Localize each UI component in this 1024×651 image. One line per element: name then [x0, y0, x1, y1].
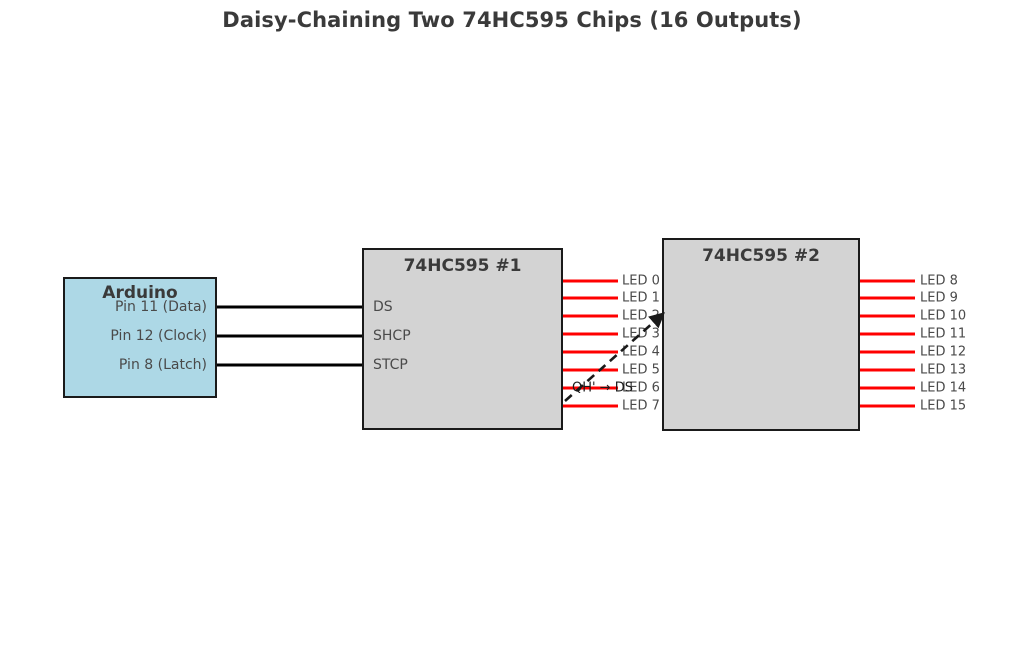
diagram-canvas: Daisy-Chaining Two 74HC595 Chips (16 Out…	[0, 0, 1024, 651]
led-wire-7	[563, 405, 618, 408]
led-wire-9	[860, 297, 915, 300]
chip1-pin-stcp-label: STCP	[373, 357, 408, 373]
led-wire-15	[860, 405, 915, 408]
arduino-pin-data-label: Pin 11 (Data)	[57, 299, 207, 315]
led-wire-2	[563, 315, 618, 318]
led-wire-1	[563, 297, 618, 300]
daisy-chain-label: QH' → DS	[572, 381, 633, 396]
led-wire-0	[563, 280, 618, 283]
led-label-2: LED 2	[622, 309, 660, 324]
led-label-15: LED 15	[920, 399, 966, 414]
led-wire-12	[860, 351, 915, 354]
led-label-12: LED 12	[920, 345, 966, 360]
arduino-pin-latch-label: Pin 8 (Latch)	[57, 357, 207, 373]
led-wire-13	[860, 369, 915, 372]
arduino-pin-clock-label: Pin 12 (Clock)	[57, 328, 207, 344]
led-label-4: LED 4	[622, 345, 660, 360]
led-label-0: LED 0	[622, 274, 660, 289]
led-label-1: LED 1	[622, 291, 660, 306]
led-label-10: LED 10	[920, 309, 966, 324]
led-wire-5	[563, 369, 618, 372]
chip2-block: 74HC595 #2	[662, 238, 860, 431]
led-wire-4	[563, 351, 618, 354]
wire-data	[217, 306, 363, 309]
led-label-14: LED 14	[920, 381, 966, 396]
led-wire-8	[860, 280, 915, 283]
chip1-pin-shcp-label: SHCP	[373, 328, 411, 344]
led-label-11: LED 11	[920, 327, 966, 342]
led-wire-3	[563, 333, 618, 336]
wire-latch	[217, 364, 363, 367]
led-label-3: LED 3	[622, 327, 660, 342]
chip1-pin-ds-label: DS	[373, 299, 393, 315]
wire-clock	[217, 335, 363, 338]
page-title: Daisy-Chaining Two 74HC595 Chips (16 Out…	[0, 8, 1024, 32]
led-label-7: LED 7	[622, 399, 660, 414]
led-wire-10	[860, 315, 915, 318]
led-label-9: LED 9	[920, 291, 958, 306]
led-wire-14	[860, 387, 915, 390]
led-wire-11	[860, 333, 915, 336]
chip1-title: 74HC595 #1	[364, 256, 561, 276]
led-label-13: LED 13	[920, 363, 966, 378]
led-label-5: LED 5	[622, 363, 660, 378]
chip2-title: 74HC595 #2	[664, 246, 858, 266]
led-label-8: LED 8	[920, 274, 958, 289]
